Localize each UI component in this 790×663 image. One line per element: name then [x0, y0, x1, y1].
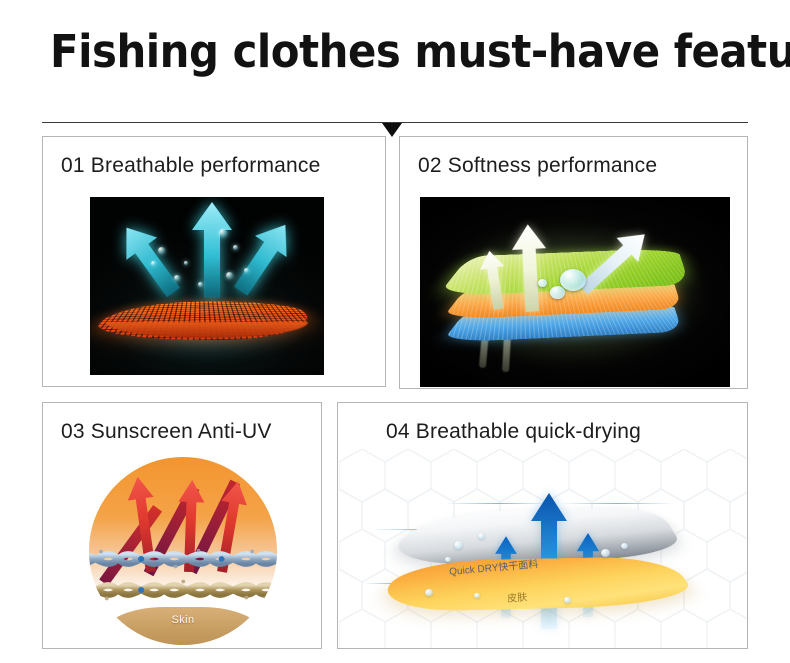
water-droplet — [233, 245, 238, 250]
water-droplet — [454, 541, 463, 549]
water-droplet — [158, 247, 165, 254]
feature-card-01: 01 Breathable performance — [42, 136, 386, 387]
water-droplet — [601, 549, 610, 557]
water-droplet — [478, 533, 485, 539]
breathable-mesh-illustration — [90, 197, 324, 375]
water-droplet-small — [538, 279, 547, 287]
water-droplet — [219, 229, 227, 237]
three-layer-softness-illustration — [420, 197, 730, 387]
feature-card-04: 04 Breathable quick-drying — [337, 402, 748, 649]
water-droplet — [474, 593, 480, 598]
feature-card-02-label: 02 Softness performance — [418, 154, 657, 178]
down-triangle-icon — [382, 123, 402, 137]
moisture-arrow-center-icon — [506, 223, 554, 313]
page-title: Fishing clothes must-have feature — [50, 26, 790, 78]
water-droplet — [425, 589, 433, 596]
skin-band: Skin — [104, 607, 262, 645]
skin-label: Skin — [104, 614, 262, 626]
feature-card-01-label: 01 Breathable performance — [61, 154, 321, 178]
water-droplet — [226, 272, 233, 279]
feature-card-03: 03 Sunscreen Anti-UV — [42, 402, 322, 649]
fabric-weave-upper — [89, 543, 277, 575]
feature-card-03-label: 03 Sunscreen Anti-UV — [61, 420, 272, 444]
water-droplet — [184, 261, 188, 265]
guide-line — [560, 503, 675, 504]
quick-dry-layers-illustration: Quick DRY快干面料 皮肤 — [339, 449, 748, 649]
water-droplet — [151, 261, 156, 266]
skin-layer-label: 皮肤 — [506, 588, 527, 605]
promo-banner: Fishing clothes must-have feature 01 Bre… — [0, 0, 790, 663]
anti-uv-circle-illustration: Skin — [63, 455, 303, 647]
uv-diagram-circle: Skin — [89, 457, 277, 645]
feature-card-04-label: 04 Breathable quick-drying — [386, 420, 641, 444]
fabric-weave-lower — [89, 574, 277, 606]
feature-card-02: 02 Softness performance — [399, 136, 748, 389]
water-droplet — [564, 597, 571, 603]
